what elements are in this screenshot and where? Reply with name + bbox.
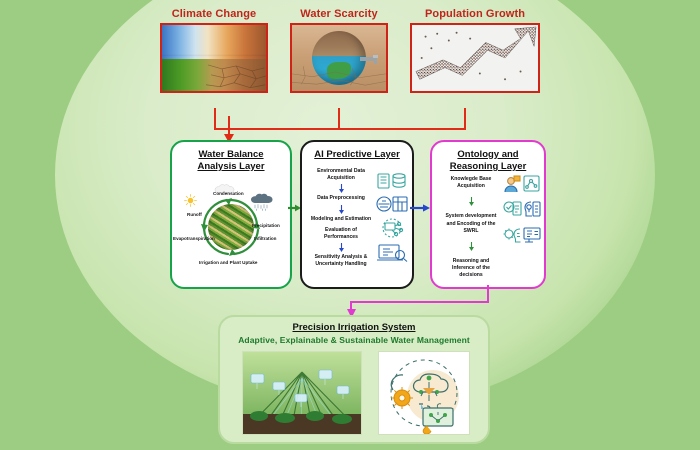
dry-ground-cracks-icon	[292, 25, 386, 87]
arrow-down-icon	[468, 197, 475, 206]
driver-label: Climate Change	[160, 8, 268, 21]
water-cycle-diagram: Condensation Runoff Precipitation Evapot…	[172, 170, 290, 282]
crowd-arrow-icon	[412, 25, 538, 89]
server-icon	[376, 195, 408, 213]
climate-change-photo	[160, 23, 268, 93]
output-precision-irrigation-system[interactable]: Precision Irrigation System Adaptive, Ex…	[218, 315, 490, 444]
layer-ontology-reasoning[interactable]: Ontology and Reasoning Layer Knowlegde B…	[430, 140, 546, 289]
cycle-label-evapotranspiration: Evapotranspiration	[173, 236, 215, 241]
ontology-step-3: Reasoning and Inference of the decisions	[432, 258, 510, 280]
connector-ai-to-ontology	[410, 203, 431, 213]
driver-label: Population Growth	[410, 8, 540, 21]
driver-water-scarcity: Water Scarcity	[290, 8, 388, 93]
output-subtitle: Adaptive, Explainable & Sustainable Wate…	[220, 333, 488, 345]
water-scarcity-photo	[290, 23, 388, 93]
cycle-label-runoff: Runoff	[187, 212, 202, 217]
ai-step-1: Environmental Data Acquisition	[302, 168, 380, 182]
arrow-down-icon	[338, 243, 345, 252]
neural-network-icon	[377, 218, 407, 238]
population-growth-photo	[410, 23, 540, 93]
layer-water-balance[interactable]: Water Balance Analysis Layer	[170, 140, 292, 289]
smart-irrigation-field-photo	[242, 351, 362, 435]
cycle-label-condensation: Condensation	[213, 191, 244, 196]
checklist-brain-icon	[503, 199, 541, 220]
arrow-down-icon	[338, 205, 345, 214]
ai-icon-column	[374, 172, 410, 267]
driver-climate-change: Climate Change	[160, 8, 268, 93]
drivers-row: Climate Change Water Scarcity	[160, 8, 540, 108]
ai-step-5: Sensitivity Analysis & Uncertainty Handl…	[302, 254, 380, 268]
ontology-step-2: System development and Encoding of the S…	[432, 213, 510, 235]
sun-icon	[184, 194, 197, 207]
cycle-label-infiltration: Infiltration	[254, 236, 276, 241]
arrow-down-icon	[338, 184, 345, 193]
cycle-label-irrigation-uptake: Irrigation and Plant Uptake	[199, 260, 257, 265]
ai-step-3: Modeling and Estimation	[302, 216, 380, 223]
layer-title: Ontology and Reasoning Layer	[432, 142, 544, 176]
smart-water-management-icon	[378, 351, 470, 435]
ontology-step-1: Knowlegde Base Acquisition	[432, 176, 510, 190]
expert-person-icon	[503, 174, 541, 194]
brain-gear-monitor-icon	[503, 225, 541, 245]
laptop-search-icon	[376, 243, 408, 262]
cracked-earth-icon	[206, 59, 266, 91]
database-icon	[377, 172, 407, 190]
ai-step-4: Evaluation of Performances	[302, 227, 380, 241]
ai-step-2: Data Preprocessing	[302, 195, 380, 202]
output-title: Precision Irrigation System	[220, 317, 488, 333]
arrow-down-icon	[468, 242, 475, 251]
cycle-label-precipitation: Precipitation	[252, 223, 280, 228]
driver-label: Water Scarcity	[290, 8, 388, 21]
layer-title: AI Predictive Layer	[302, 142, 412, 164]
ontology-icon-column	[502, 174, 542, 250]
diagram-canvas: Climate Change Water Scarcity	[0, 0, 700, 450]
layer-ai-predictive[interactable]: AI Predictive Layer Environmental Data A…	[300, 140, 414, 289]
driver-population-growth: Population Growth	[410, 8, 540, 93]
